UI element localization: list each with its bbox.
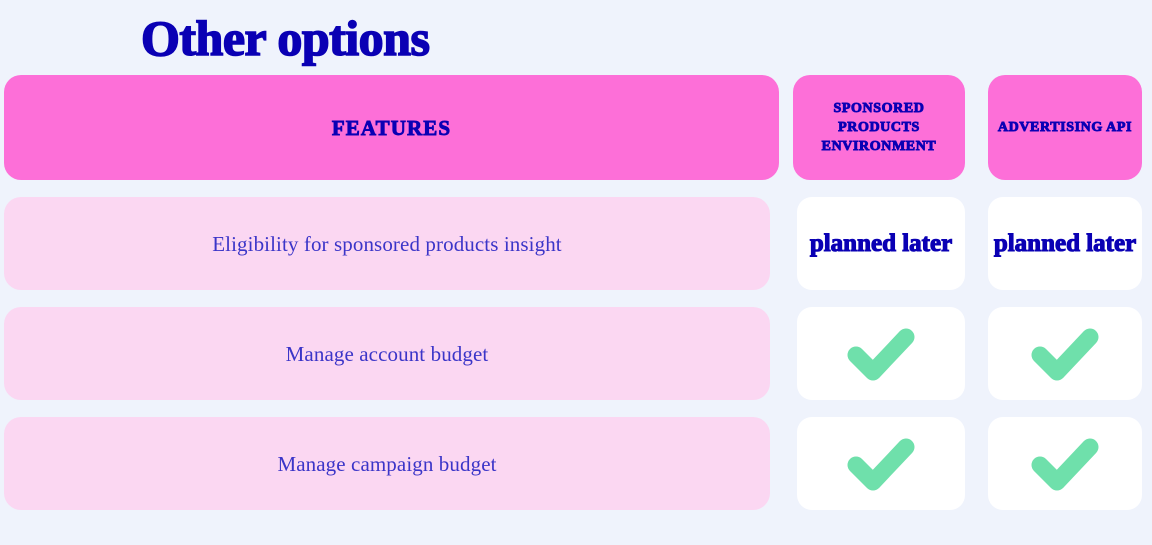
check-icon	[846, 325, 916, 383]
feature-cell: Eligibility for sponsored products insig…	[4, 197, 770, 290]
check-icon	[1030, 435, 1100, 493]
value-cell-advertising-api	[988, 307, 1142, 400]
value-cell-sponsored-products-environment: planned later	[797, 197, 965, 290]
header-column-2-label: ADVERTISING API	[998, 118, 1132, 137]
table-row: Eligibility for sponsored products insig…	[0, 197, 1152, 290]
header-cell-sponsored-products-environment: SPONSORED PRODUCTS ENVIRONMENT	[793, 75, 965, 180]
value-cell-advertising-api: planned later	[988, 197, 1142, 290]
value-cell-advertising-api	[988, 417, 1142, 510]
feature-cell: Manage campaign budget	[4, 417, 770, 510]
header-column-1-label: SPONSORED PRODUCTS ENVIRONMENT	[801, 99, 957, 156]
feature-label: Manage account budget	[286, 341, 489, 367]
table-header-row: FEATURES SPONSORED PRODUCTS ENVIRONMENT …	[0, 75, 1152, 180]
value-cell-sponsored-products-environment	[797, 307, 965, 400]
header-cell-advertising-api: ADVERTISING API	[988, 75, 1142, 180]
feature-label: Eligibility for sponsored products insig…	[212, 231, 562, 257]
header-cell-features: FEATURES	[4, 75, 779, 180]
value-text: planned later	[810, 229, 952, 259]
table-row: Manage campaign budget	[0, 417, 1152, 510]
comparison-table: FEATURES SPONSORED PRODUCTS ENVIRONMENT …	[0, 75, 1152, 510]
feature-cell: Manage account budget	[4, 307, 770, 400]
header-features-label: FEATURES	[332, 115, 451, 141]
feature-label: Manage campaign budget	[277, 451, 496, 477]
check-icon	[846, 435, 916, 493]
table-row: Manage account budget	[0, 307, 1152, 400]
check-icon	[1030, 325, 1100, 383]
value-text: planned later	[994, 229, 1136, 259]
value-cell-sponsored-products-environment	[797, 417, 965, 510]
page-title: Other options	[141, 8, 429, 68]
